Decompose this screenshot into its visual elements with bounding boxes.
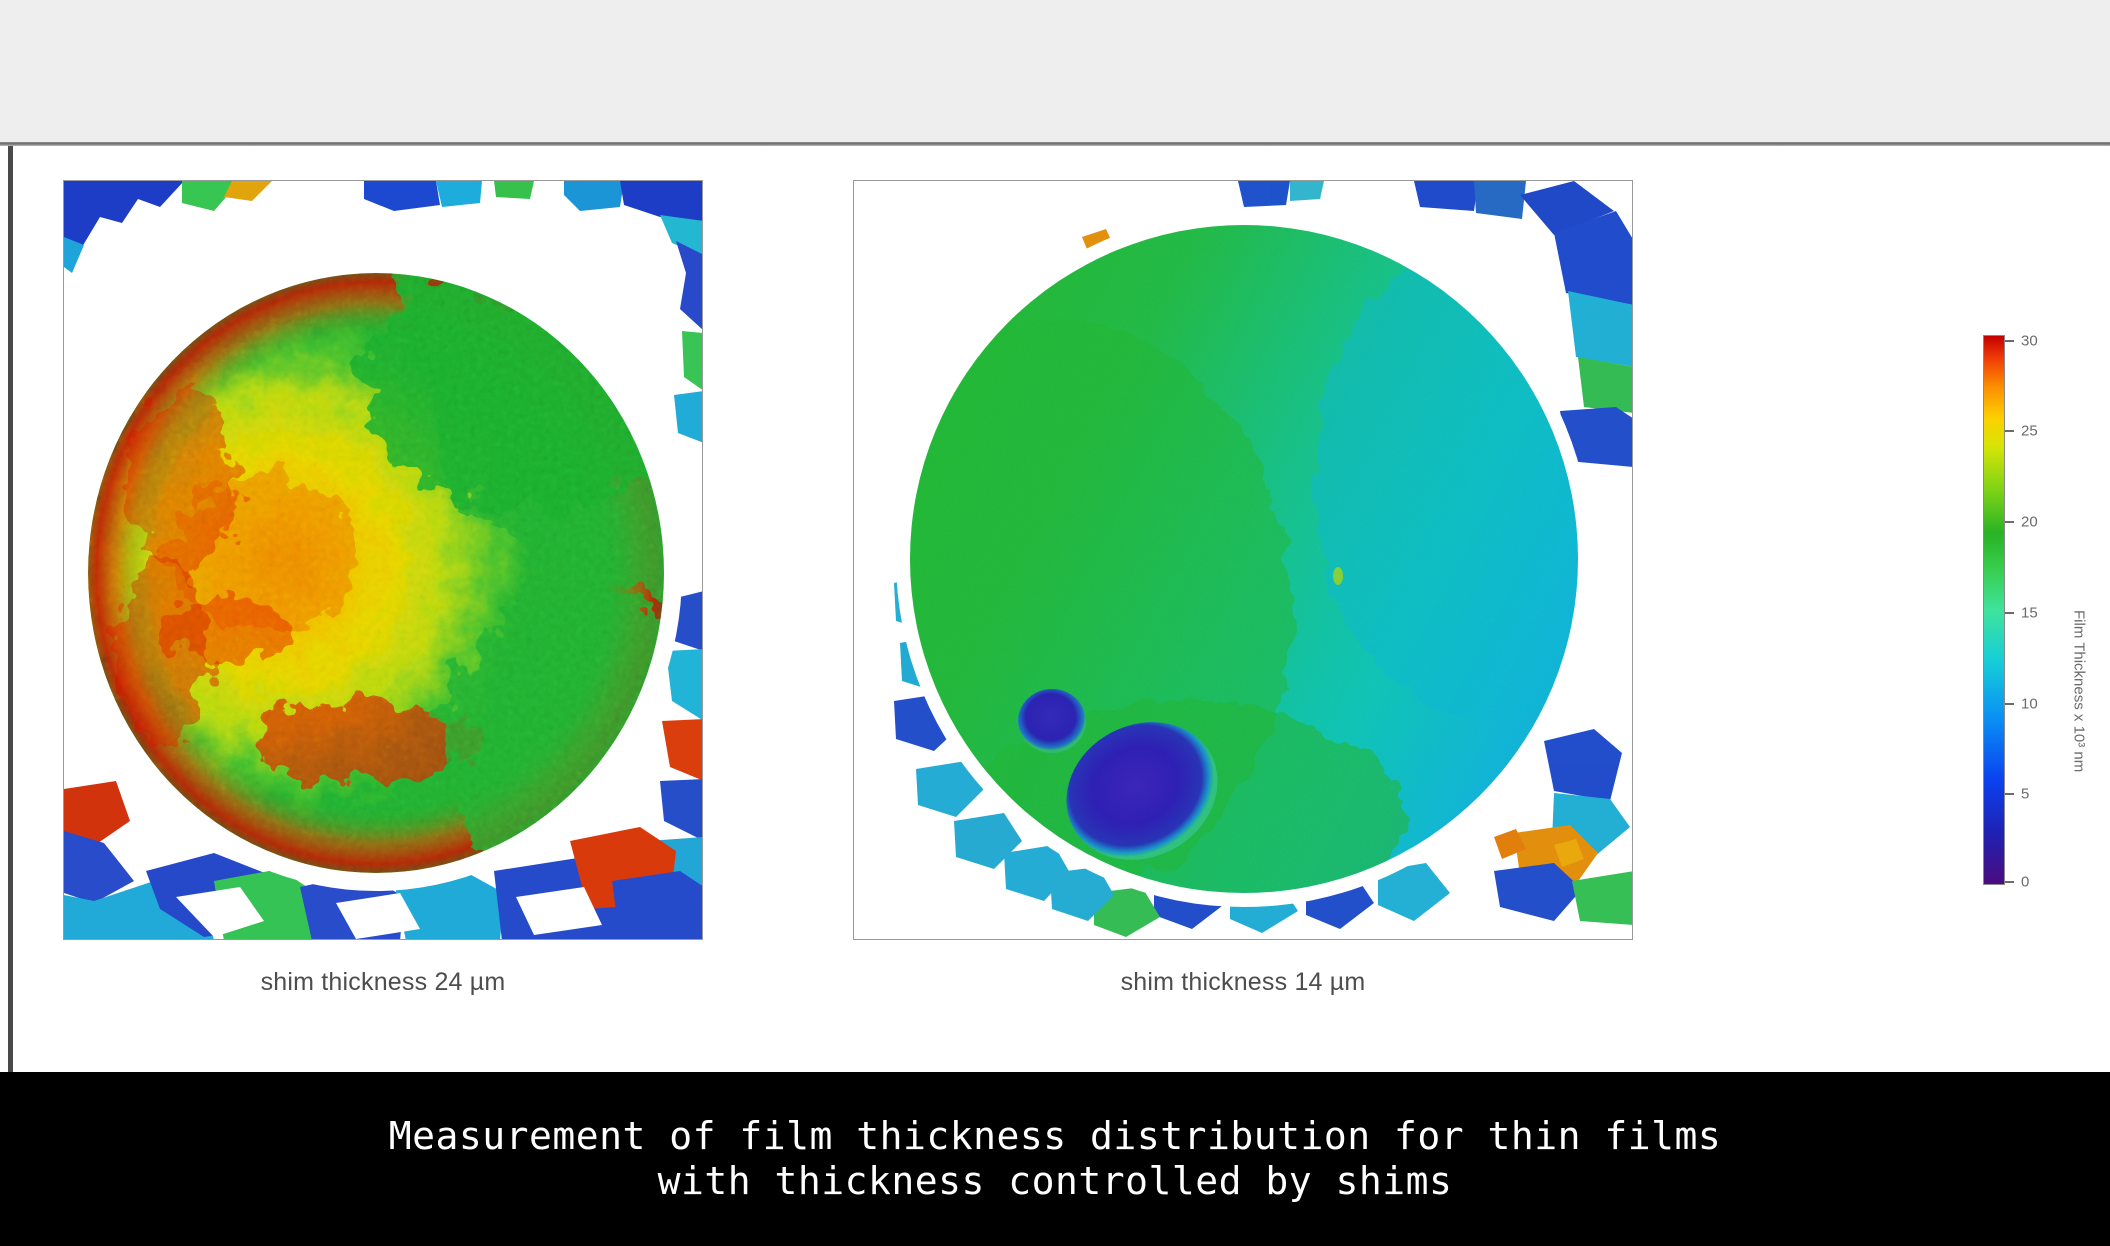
ytick: 1300 bbox=[63, 499, 66, 528]
ytick: 1360 bbox=[63, 295, 66, 324]
colorbar-tick bbox=[2005, 881, 2014, 883]
figure-sheet: 1380 1400 1420 1440 1460 1480 1500 1520 … bbox=[8, 146, 2110, 1072]
colorbar-tick bbox=[2005, 521, 2014, 523]
panel-left-plot: 1380 1400 1420 1440 1460 1480 1500 1520 … bbox=[63, 180, 703, 940]
screenshot-root: 1380 1400 1420 1440 1460 1480 1500 1520 … bbox=[0, 0, 2110, 1246]
ytick: 320 bbox=[853, 537, 856, 559]
ytick: 1220 bbox=[63, 787, 66, 816]
ytick: 240 bbox=[853, 810, 856, 832]
ytick: 400 bbox=[853, 264, 856, 286]
ytick: 1200 bbox=[63, 871, 66, 900]
ytick: 260 bbox=[853, 742, 856, 764]
colorbar-tick bbox=[2005, 340, 2014, 342]
ytick: 1240 bbox=[63, 704, 66, 733]
caption-line-1: Measurement of film thickness distributi… bbox=[389, 1114, 1722, 1159]
colorbar-tick-label: 5 bbox=[2021, 786, 2029, 803]
panel-right: 1960 1980 2000 2020 2040 2060 2080 2100 … bbox=[853, 180, 1633, 992]
ytick: 1260 bbox=[63, 636, 66, 665]
colorbar-tick-label: 25 bbox=[2021, 423, 2038, 440]
ytick: 300 bbox=[853, 605, 856, 627]
colorbar-tick bbox=[2005, 612, 2014, 614]
panel-right-caption: shim thickness 14 µm bbox=[853, 968, 1633, 997]
colorbar-tick-label: 15 bbox=[2021, 604, 2038, 621]
ytick: 1380 bbox=[63, 226, 66, 255]
heatmap-right bbox=[854, 181, 1633, 940]
colorbar-axis-label: Film Thickness x 10³ nm bbox=[2071, 610, 2088, 772]
colorbar-tick bbox=[2005, 793, 2014, 795]
ytick: 420 bbox=[853, 204, 856, 226]
ytick: 1320 bbox=[63, 431, 66, 460]
colorbar-tick bbox=[2005, 703, 2014, 705]
colorbar: 30 25 20 15 10 5 0 Film Thickness x 10³ … bbox=[1983, 335, 2110, 885]
caption-line-2: with thickness controlled by shims bbox=[389, 1159, 1722, 1204]
colorbar-tick-label: 10 bbox=[2021, 695, 2038, 712]
ytick: 280 bbox=[853, 674, 856, 696]
ytick: 1340 bbox=[63, 363, 66, 392]
ytick: 360 bbox=[853, 401, 856, 423]
caption-text: Measurement of film thickness distributi… bbox=[389, 1114, 1722, 1204]
panel-left: 1380 1400 1420 1440 1460 1480 1500 1520 … bbox=[63, 180, 703, 992]
window-top-band bbox=[0, 0, 2110, 142]
colorbar-tick-label: 30 bbox=[2021, 332, 2038, 349]
ytick: 220 bbox=[853, 886, 856, 908]
caption-bar: Measurement of film thickness distributi… bbox=[0, 1072, 2110, 1246]
colorbar-gradient bbox=[1983, 335, 2005, 885]
ytick: 1280 bbox=[63, 568, 66, 597]
ytick: 380 bbox=[853, 333, 856, 355]
colorbar-tick bbox=[2005, 430, 2014, 432]
colorbar-tick-label: 0 bbox=[2021, 874, 2029, 891]
panel-right-plot: 1960 1980 2000 2020 2040 2060 2080 2100 … bbox=[853, 180, 1633, 940]
colorbar-tick-label: 20 bbox=[2021, 514, 2038, 531]
ytick: 340 bbox=[853, 469, 856, 491]
panel-left-caption: shim thickness 24 µm bbox=[63, 968, 703, 997]
heatmap-left bbox=[64, 181, 703, 940]
